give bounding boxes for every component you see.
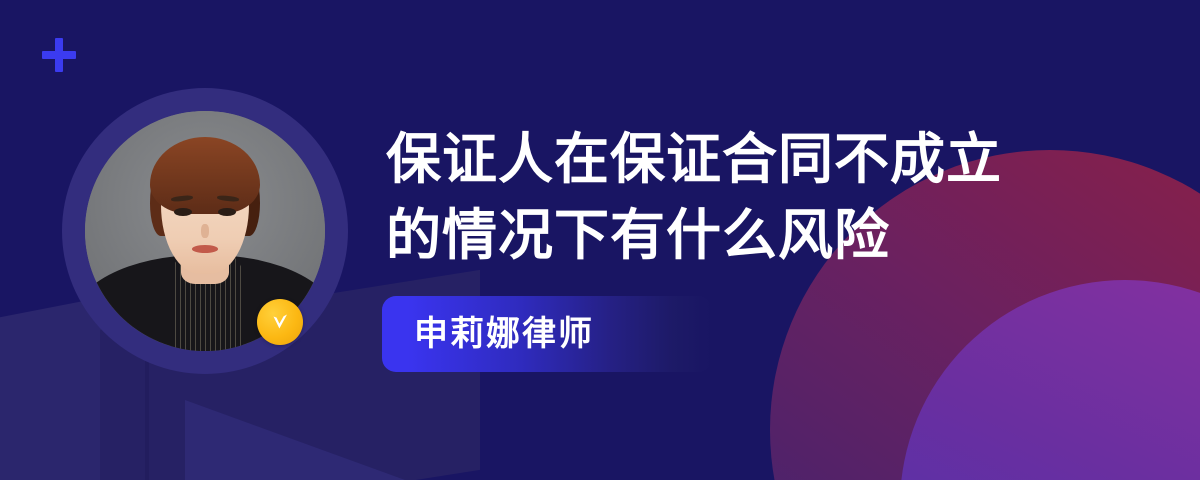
page-title: 保证人在保证合同不成立 的情况下有什么风险 — [386, 121, 1086, 273]
verified-check-icon — [257, 299, 303, 345]
background-shape-left-block — [0, 365, 150, 480]
background-blob-violet — [900, 280, 1200, 480]
avatar — [62, 88, 348, 374]
plus-icon — [42, 38, 76, 72]
portrait-nose — [201, 224, 209, 238]
background-shape-triangle — [185, 400, 515, 480]
lawyer-name-badge[interactable]: 申莉娜律师 — [382, 296, 712, 372]
lawyer-qa-banner: 保证人在保证合同不成立 的情况下有什么风险 申莉娜律师 — [0, 0, 1200, 480]
background-shape-column — [145, 360, 149, 480]
lawyer-name-label: 申莉娜律师 — [414, 317, 594, 351]
